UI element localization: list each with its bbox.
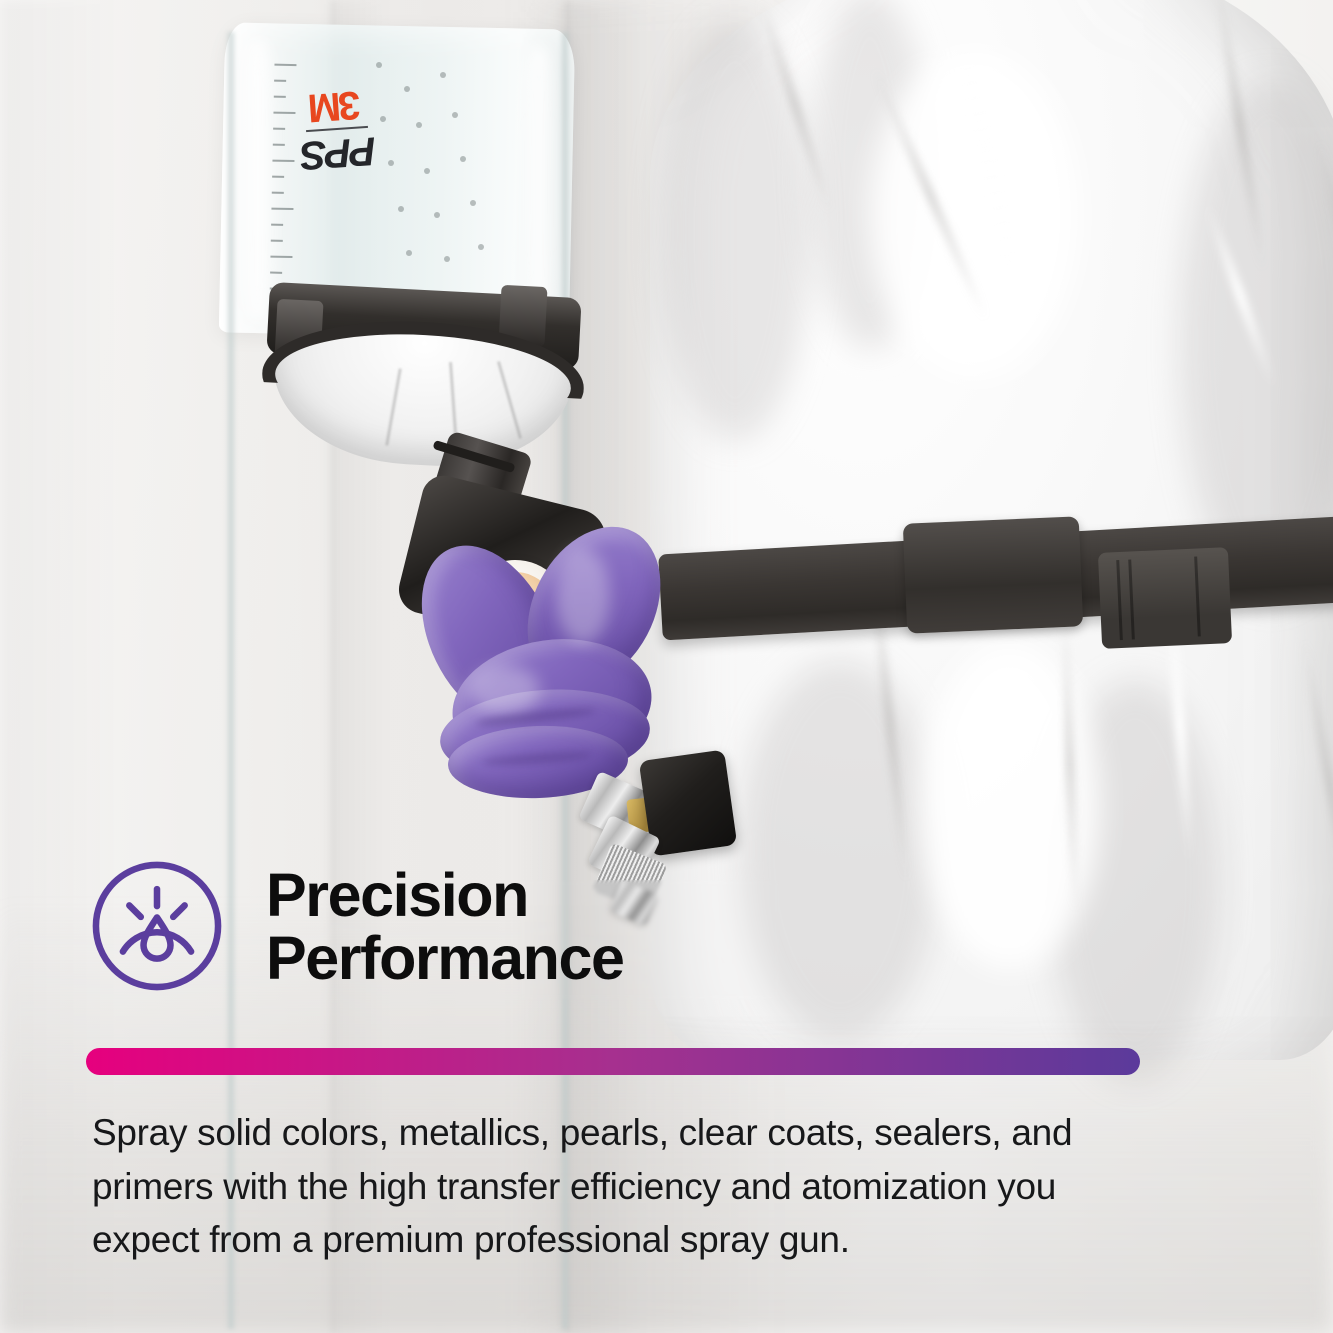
gauge-droplet-icon <box>86 855 228 997</box>
gradient-divider <box>86 1048 1140 1075</box>
feature-description: Spray solid colors, metallics, pearls, c… <box>92 1106 1172 1267</box>
product-feature-banner: PPS 3M 1.3 <box>0 0 1333 1333</box>
feature-title: Precision Performance <box>266 855 624 990</box>
feature-header-row: Precision Performance <box>86 855 624 997</box>
feature-content: Precision Performance Spray solid colors… <box>0 0 1333 1333</box>
